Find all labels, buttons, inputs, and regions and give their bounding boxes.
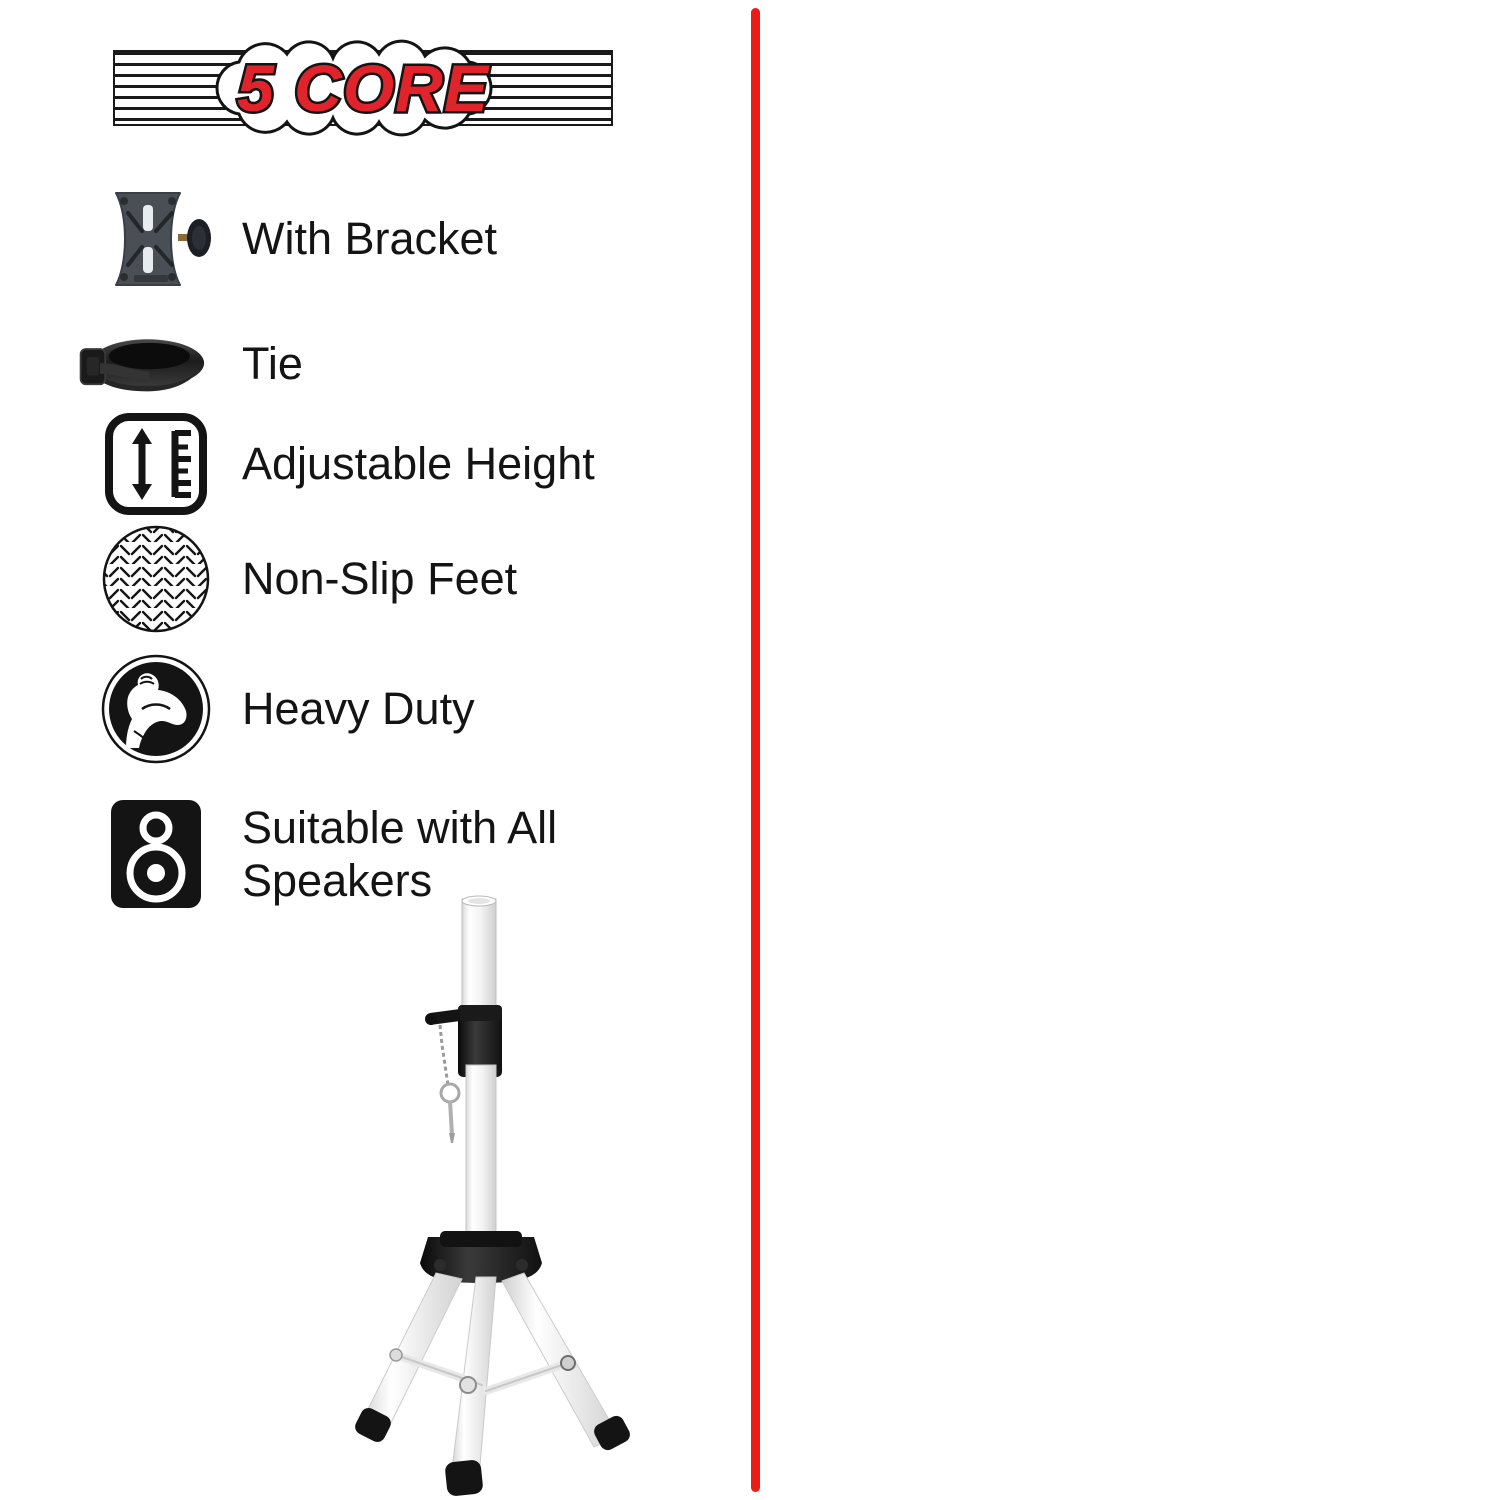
comparison-infographic: 5 CORE (0, 0, 1500, 1500)
feature-label: Tie (242, 337, 303, 390)
white-tripod-speaker-stand (300, 885, 720, 1500)
flexed-bicep-icon (92, 645, 220, 773)
five-core-logo: 5 CORE (113, 38, 613, 138)
logo-text-label: 5 CORE (237, 50, 489, 126)
feature-row-heavy-duty: Heavy Duty (92, 645, 732, 773)
feature-label: Heavy Duty (242, 682, 475, 735)
left-column-5core: 5 CORE (0, 0, 751, 1500)
speaker-icon (92, 790, 220, 918)
column-divider (751, 8, 760, 1492)
feature-row-non-slip-feet: Non-Slip Feet (92, 515, 732, 643)
feature-label: Adjustable Height (242, 437, 595, 490)
bracket-plate-icon (92, 175, 220, 303)
adjustable-height-icon (92, 400, 220, 528)
logo-text: 5 CORE (113, 38, 613, 138)
right-column-others: OTHERS With Bracket Tie Adjustable Heigh… (760, 0, 1500, 1500)
feature-row-with-bracket: With Bracket (92, 175, 732, 303)
feature-label: With Bracket (242, 212, 497, 265)
feature-row-adjustable-height: Adjustable Height (92, 400, 732, 528)
non-slip-tread-icon (92, 515, 220, 643)
feature-label: Non-Slip Feet (242, 552, 517, 605)
